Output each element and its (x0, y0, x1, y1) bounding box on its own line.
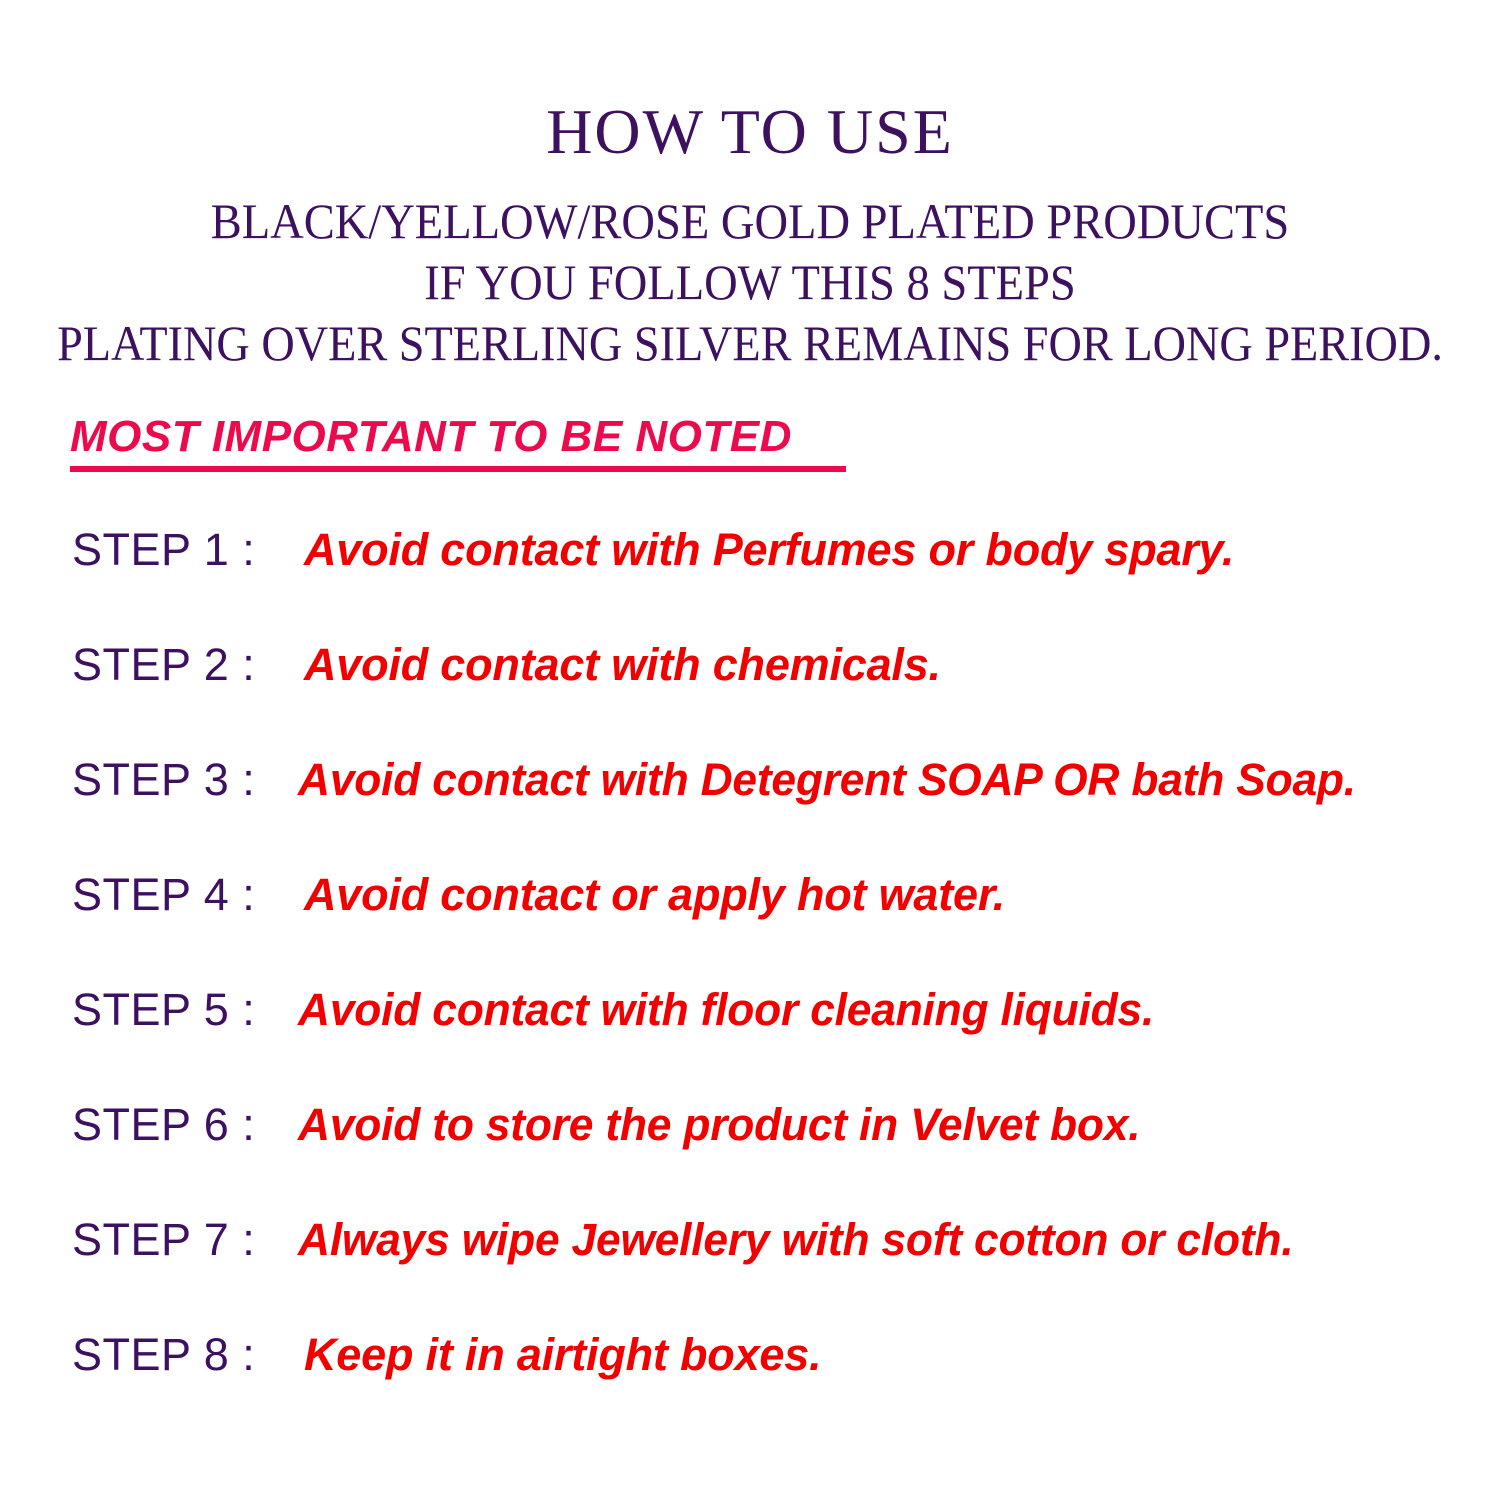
step-description: Avoid to store the product in Velvet box… (298, 1102, 1140, 1147)
step-item: STEP 4 :Avoid contact or apply hot water… (72, 872, 1492, 987)
step-description: Avoid contact with Detegrent SOAP OR bat… (298, 757, 1356, 802)
step-label: STEP 3 : (72, 757, 304, 802)
notice-heading: MOST IMPORTANT TO BE NOTED (70, 415, 792, 459)
how-to-use-instruction-sheet: HOW TO USE BLACK/YELLOW/ROSE GOLD PLATED… (0, 0, 1500, 1500)
step-item: STEP 3 :Avoid contact with Detegrent SOA… (72, 757, 1492, 872)
step-label: STEP 5 : (72, 987, 304, 1032)
step-item: STEP 1 :Avoid contact with Perfumes or b… (72, 527, 1492, 642)
subtitle-line-2: IF YOU FOLLOW THIS 8 STEPS (53, 257, 1448, 307)
step-label: STEP 2 : (72, 642, 304, 687)
page-title: HOW TO USE (0, 100, 1500, 164)
subtitle-line-3: PLATING OVER STERLING SILVER REMAINS FOR… (56, 318, 1444, 368)
step-description: Keep it in airtight boxes. (304, 1332, 821, 1377)
step-item: STEP 2 :Avoid contact with chemicals. (72, 642, 1492, 757)
step-item: STEP 8 :Keep it in airtight boxes. (72, 1332, 1492, 1447)
notice-underline (70, 466, 846, 472)
step-item: STEP 6 :Avoid to store the product in Ve… (72, 1102, 1492, 1217)
step-label: STEP 8 : (72, 1332, 304, 1377)
step-label: STEP 4 : (72, 872, 304, 917)
step-description: Always wipe Jewellery with soft cotton o… (298, 1217, 1293, 1262)
subtitle-block: BLACK/YELLOW/ROSE GOLD PLATED PRODUCTS I… (0, 196, 1500, 368)
step-description: Avoid contact with floor cleaning liquid… (298, 987, 1154, 1032)
step-item: STEP 7 :Always wipe Jewellery with soft … (72, 1217, 1492, 1332)
step-description: Avoid contact with Perfumes or body spar… (304, 527, 1234, 572)
subtitle-line-1: BLACK/YELLOW/ROSE GOLD PLATED PRODUCTS (53, 196, 1448, 246)
step-label: STEP 7 : (72, 1217, 304, 1262)
step-label: STEP 6 : (72, 1102, 304, 1147)
steps-list: STEP 1 :Avoid contact with Perfumes or b… (72, 527, 1492, 1447)
step-description: Avoid contact or apply hot water. (304, 872, 1005, 917)
step-description: Avoid contact with chemicals. (304, 642, 941, 687)
step-label: STEP 1 : (72, 527, 304, 572)
step-item: STEP 5 :Avoid contact with floor cleanin… (72, 987, 1492, 1102)
